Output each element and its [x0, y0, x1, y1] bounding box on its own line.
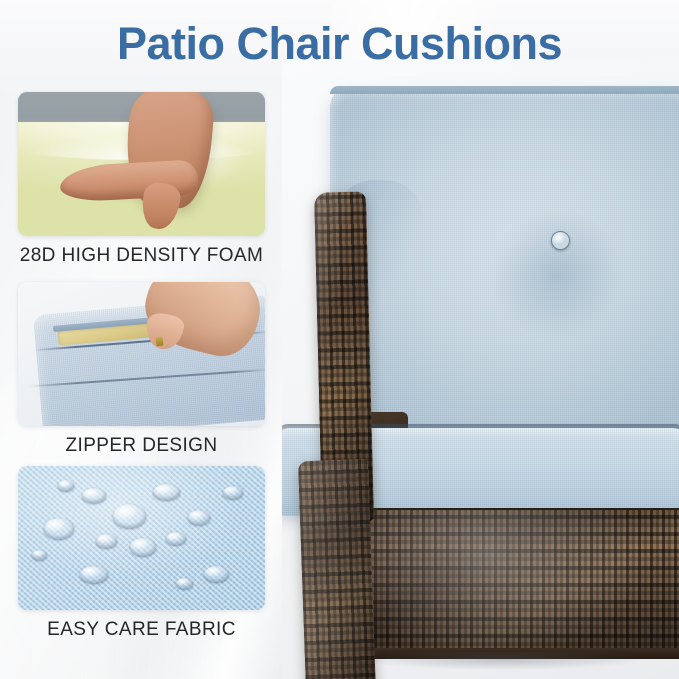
feature-card-foam: 28D HIGH DENSITY FOAM	[18, 92, 265, 267]
wicker-arm-lower	[298, 459, 376, 679]
feature-card-fabric: EASY CARE FABRIC	[18, 466, 265, 641]
water-droplet	[223, 486, 243, 499]
water-droplet	[188, 510, 210, 525]
water-droplet	[113, 504, 146, 528]
feature-caption-foam: 28D HIGH DENSITY FOAM	[18, 245, 265, 267]
floor-shadow	[312, 652, 679, 676]
tufted-button-icon	[551, 231, 570, 250]
water-droplet	[80, 566, 108, 583]
tuft-shading	[462, 180, 652, 370]
page-title: Patio Chair Cushions	[0, 17, 679, 71]
water-droplet	[32, 550, 47, 560]
wicker-arm-highlight	[298, 459, 376, 679]
feature-image-zipper	[18, 282, 265, 426]
feature-card-zipper: ZIPPER DESIGN	[18, 282, 265, 457]
product-photo	[282, 60, 679, 679]
wicker-base-highlight	[362, 510, 679, 655]
water-droplet	[58, 480, 74, 491]
feature-image-foam	[18, 92, 265, 236]
product-infographic: Patio Chair Cushions 28D HIGH DENSITY FO…	[0, 0, 679, 679]
feature-caption-fabric: EASY CARE FABRIC	[18, 619, 265, 641]
water-droplet	[96, 534, 117, 548]
water-droplet	[130, 538, 156, 556]
wicker-base-front	[362, 510, 679, 655]
water-droplet	[176, 578, 193, 589]
water-droplet	[166, 532, 186, 545]
water-droplet	[44, 518, 74, 539]
water-droplet	[204, 566, 229, 582]
water-droplet	[153, 484, 180, 500]
water-droplet	[82, 488, 106, 503]
back-cushion-piping	[330, 86, 679, 94]
feature-image-fabric	[18, 466, 265, 610]
feature-caption-zipper: ZIPPER DESIGN	[18, 435, 265, 457]
